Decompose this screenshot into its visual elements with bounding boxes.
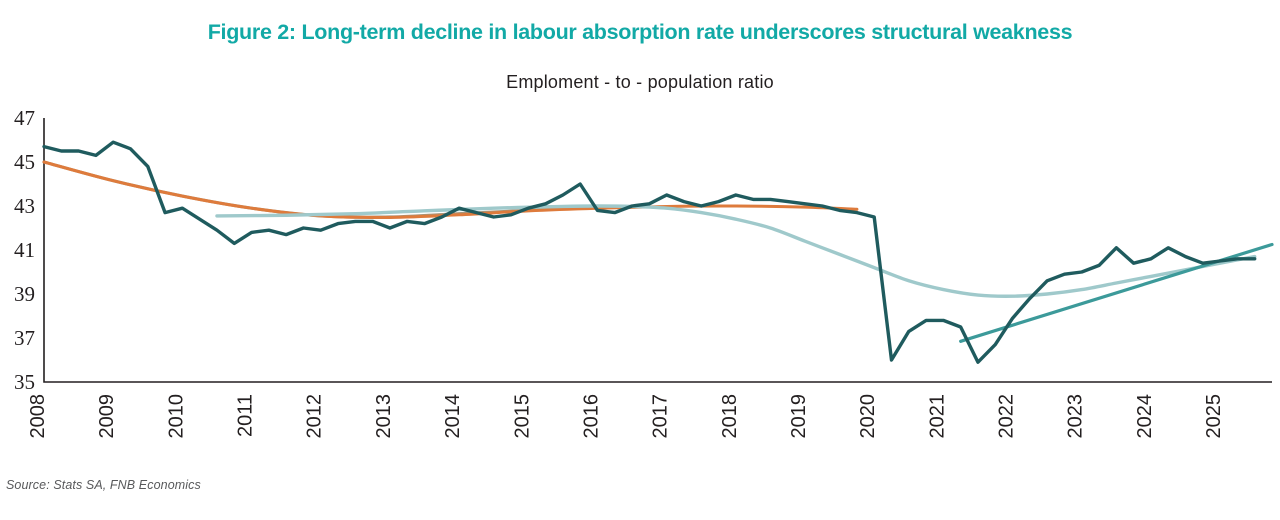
x-axis-tick-label: 2024 xyxy=(1134,394,1156,439)
line-chart-svg: 35373941434547 2008200920102011201220132… xyxy=(0,0,1280,520)
y-axis-tick-label: 43 xyxy=(14,194,35,218)
x-axis-tick-label: 2009 xyxy=(96,394,118,439)
y-axis-tick-label: 39 xyxy=(14,282,35,306)
x-axis-tick-label: 2021 xyxy=(926,394,948,439)
x-axis-tick-label: 2012 xyxy=(304,394,326,439)
x-axis-tick-label: 2008 xyxy=(27,394,49,439)
x-axis-tick-label: 2014 xyxy=(442,394,464,439)
y-axis-tick-label: 35 xyxy=(14,370,35,394)
source-note: Source: Stats SA, FNB Economics xyxy=(6,478,201,492)
plot-area: 35373941434547 2008200920102011201220132… xyxy=(0,0,1280,520)
figure-container: Figure 2: Long-term decline in labour ab… xyxy=(0,0,1280,520)
x-axis-tick-label: 2016 xyxy=(580,394,602,439)
y-axis-tick-label: 37 xyxy=(14,326,35,350)
y-axis-tick-label: 41 xyxy=(14,238,35,262)
y-axis-tick-label: 47 xyxy=(14,106,35,130)
chart-axes xyxy=(44,118,1272,382)
x-axis-tick-label: 2019 xyxy=(788,394,810,439)
y-axis-tick-labels: 35373941434547 xyxy=(14,106,35,394)
x-axis-tick-label: 2010 xyxy=(165,394,187,439)
y-axis-tick-label: 45 xyxy=(14,150,35,174)
x-axis-tick-labels: 2008200920102011201220132014201520162017… xyxy=(27,394,1225,439)
chart-series-line xyxy=(217,206,1255,296)
chart-series-line xyxy=(44,142,1255,362)
chart-series-group xyxy=(44,142,1272,362)
x-axis-tick-label: 2017 xyxy=(650,394,672,439)
x-axis-tick-label: 2011 xyxy=(235,394,257,437)
x-axis-tick-label: 2022 xyxy=(996,394,1018,439)
x-axis-tick-label: 2015 xyxy=(511,394,533,439)
x-axis-tick-label: 2013 xyxy=(373,394,395,439)
x-axis-tick-label: 2023 xyxy=(1065,394,1087,439)
x-axis-tick-label: 2025 xyxy=(1203,394,1225,439)
x-axis-tick-label: 2020 xyxy=(857,394,879,439)
x-axis-tick-label: 2018 xyxy=(719,394,741,439)
